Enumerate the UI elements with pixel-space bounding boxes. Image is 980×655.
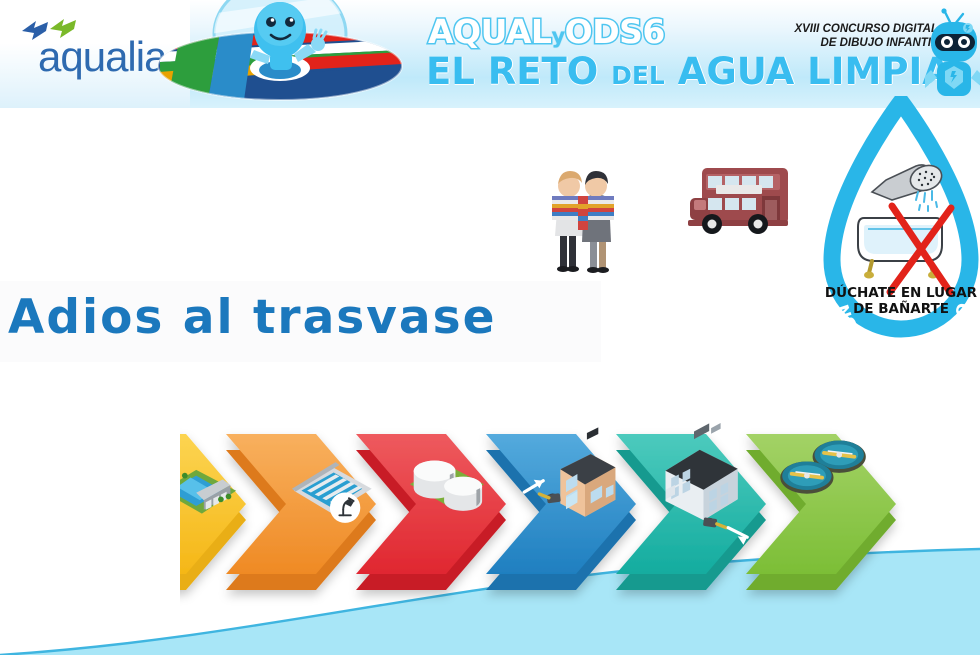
contest-subtitle: XVIII CONCURSO DIGITAL DE DIBUJO INFANTI…	[742, 22, 938, 50]
title-agua-limpia: AGUA LIMPIA	[678, 50, 951, 93]
cycle-step-4[interactable]	[486, 434, 636, 590]
tip-line-one: DÚCHATE EN LUGAR	[825, 283, 978, 301]
water-drop-badge: DÚCHATE EN LUGAR DE BAÑARTE CONSEJO GOTA…	[820, 96, 980, 381]
page-title: Adios al trasvase	[8, 288, 497, 348]
cycle-step-3[interactable]	[356, 434, 506, 590]
contest-line-one: XVIII CONCURSO DIGITAL	[742, 22, 938, 36]
header-banner: aqualia	[0, 0, 980, 108]
slide-canvas: aqualia	[0, 0, 980, 655]
aqualia-wordmark: aqualia	[38, 36, 166, 78]
water-cycle-arrows	[180, 398, 920, 618]
title-conjunction: y	[551, 24, 564, 48]
title-line-one: AQUALyODS6	[428, 12, 665, 51]
title-aqual: AQUAL	[428, 12, 551, 51]
tip-line-two: DE BAÑARTE	[853, 300, 949, 317]
double-decker-bus-icon	[686, 160, 794, 240]
blue-robot-mascot-icon	[925, 8, 980, 108]
title-del: DEL	[611, 61, 665, 90]
title-ods6: ODS6	[565, 12, 665, 51]
title-line-two: EL RETO DEL AGUA LIMPIA	[426, 50, 951, 93]
contest-line-two: DE DIBUJO INFANTIL	[742, 36, 938, 50]
water-cycle-chain	[180, 398, 920, 618]
title-el-reto: EL RETO	[426, 50, 598, 93]
colorful-flying-saucer-icon	[150, 0, 410, 106]
two-people-sharing-scarf-icon	[536, 160, 628, 275]
